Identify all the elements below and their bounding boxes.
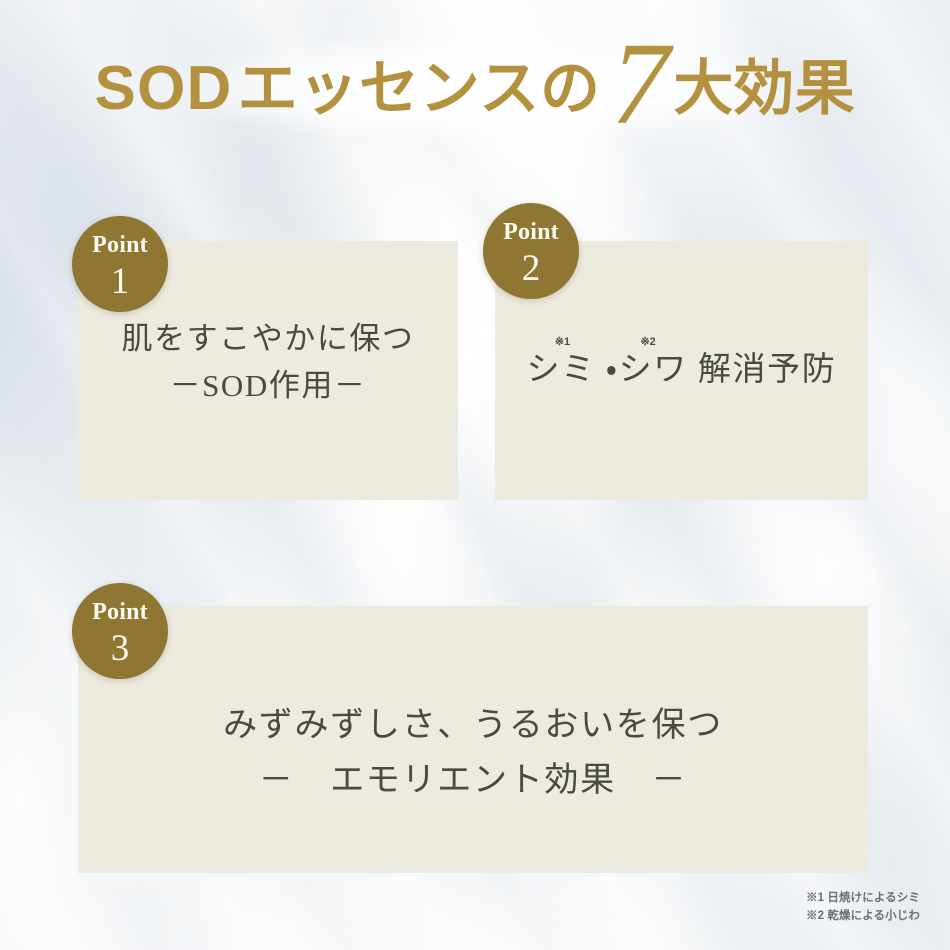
point-card-2-term-3: 解消予防 bbox=[698, 352, 837, 388]
point-badge-1-word: Point bbox=[72, 233, 168, 257]
point-card-1-line-1: 肌をすこやかに保つ bbox=[78, 315, 458, 362]
promo-poster: SOD エッセンスの 7 大効果 肌をすこやかに保つ －SOD作用－ シミ ※1… bbox=[0, 0, 950, 950]
point-card-3: みずみずしさ、うるおいを保つ － エモリエント効果 － bbox=[78, 606, 868, 873]
page-title-suffix: 大効果 bbox=[669, 59, 855, 119]
point-badge-3-number: 3 bbox=[72, 630, 168, 667]
point-card-2-line-1: シミ ※1 ・シワ ※2 解消予防 bbox=[495, 345, 868, 395]
page-title-inner: SOD エッセンスの 7 大効果 bbox=[94, 58, 855, 120]
footnote-ref-1: ※1 bbox=[555, 334, 570, 351]
point-card-3-line-2: － エモリエント効果 － bbox=[78, 753, 868, 808]
footnote-item-2: ※2 乾燥による小じわ bbox=[806, 907, 920, 926]
point-card-2-term-2: ・シワ ※2 bbox=[606, 345, 688, 395]
footnote-list: ※1 日焼けによるシミ ※2 乾燥による小じわ bbox=[806, 889, 920, 926]
page-title: SOD エッセンスの 7 大効果 bbox=[0, 58, 950, 120]
footnote-ref-2: ※2 bbox=[640, 334, 655, 351]
point-card-2-term-1: シミ ※1 bbox=[527, 345, 596, 395]
point-card-2-text: シミ ※1 ・シワ ※2 解消予防 bbox=[495, 345, 868, 395]
point-card-1-line-2: －SOD作用－ bbox=[78, 362, 458, 409]
point-badge-2-word: Point bbox=[483, 220, 579, 244]
point-badge-2-number: 2 bbox=[483, 250, 579, 287]
point-card-2-term-2-label: ・シワ bbox=[606, 352, 688, 388]
point-badge-1: Point 1 bbox=[72, 216, 168, 312]
point-badge-1-number: 1 bbox=[72, 263, 168, 300]
point-card-3-text: みずみずしさ、うるおいを保つ － エモリエント効果 － bbox=[78, 698, 868, 808]
point-card-2-term-1-label: シミ bbox=[527, 352, 596, 388]
footnote-item-1: ※1 日焼けによるシミ bbox=[806, 889, 920, 908]
page-title-latin: SOD bbox=[94, 58, 237, 120]
point-card-1-text: 肌をすこやかに保つ －SOD作用－ bbox=[78, 315, 458, 409]
point-card-3-line-1: みずみずしさ、うるおいを保つ bbox=[78, 698, 868, 753]
point-badge-3: Point 3 bbox=[72, 583, 168, 679]
point-badge-3-word: Point bbox=[72, 600, 168, 624]
point-badge-2: Point 2 bbox=[483, 203, 579, 299]
page-title-prefix: エッセンスの bbox=[238, 59, 601, 119]
